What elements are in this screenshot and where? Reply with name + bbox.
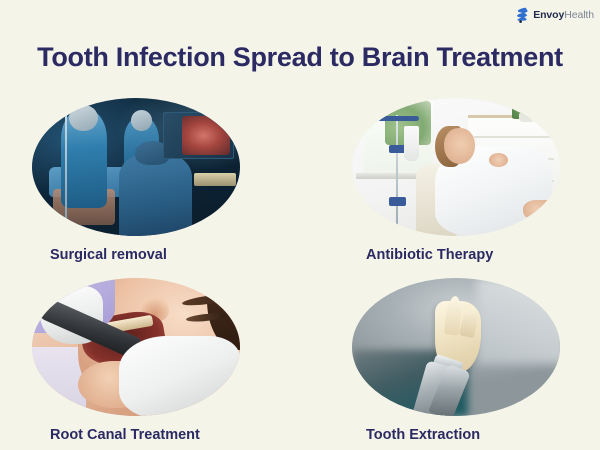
thumbnail-root-canal-treatment [32,278,240,416]
card-antibiotic-therapy[interactable]: Antibiotic Therapy [352,98,560,264]
surgeon-foreground [119,153,192,236]
instrument-tray [194,173,236,187]
envoy-flame-icon [516,7,530,23]
surgeon-left [61,109,107,208]
patient-head [444,128,475,164]
iv-therapy-illustration [352,98,560,236]
logo-wordmark: EnvoyHealth [533,10,594,21]
card-tooth-extraction[interactable]: Tooth Extraction [352,278,560,444]
root-canal-illustration [32,278,240,416]
patient-leg [523,200,556,222]
surgical-monitor [163,112,234,160]
treatment-card-grid: Surgical removal [0,98,600,443]
caption-tooth-extraction: Tooth Extraction [352,428,560,444]
potted-plant [512,99,541,118]
iv-pole [65,101,67,233]
thumbnail-surgical-removal [32,98,240,236]
iv-stand-pole [396,115,398,231]
surgery-room-illustration [32,98,240,236]
iv-pole-head [61,101,76,108]
logo-suffix-text: Health [564,9,594,21]
thumbnail-antibiotic-therapy [352,98,560,236]
caption-surgical-removal: Surgical removal [32,248,240,264]
gloved-hand-lower [119,336,240,416]
iv-stand-hook [377,116,419,122]
caption-antibiotic-therapy: Antibiotic Therapy [352,248,560,264]
page-title: Tooth Infection Spread to Brain Treatmen… [30,40,570,74]
envoy-health-logo[interactable]: EnvoyHealth [516,6,594,24]
card-root-canal-treatment[interactable]: Root Canal Treatment [32,278,240,444]
tooth-extraction-illustration [352,278,560,416]
thumbnail-tooth-extraction [352,278,560,416]
caption-root-canal-treatment: Root Canal Treatment [32,428,240,444]
card-surgical-removal[interactable]: Surgical removal [32,98,240,264]
patient-hand [489,153,508,167]
logo-brand-text: Envoy [533,9,564,21]
iv-stand-clamp-lower [389,197,406,205]
infographic-canvas: EnvoyHealth Tooth Infection Spread to Br… [0,0,600,450]
iv-fluid-bag [404,126,419,162]
background-highlight [477,278,560,364]
